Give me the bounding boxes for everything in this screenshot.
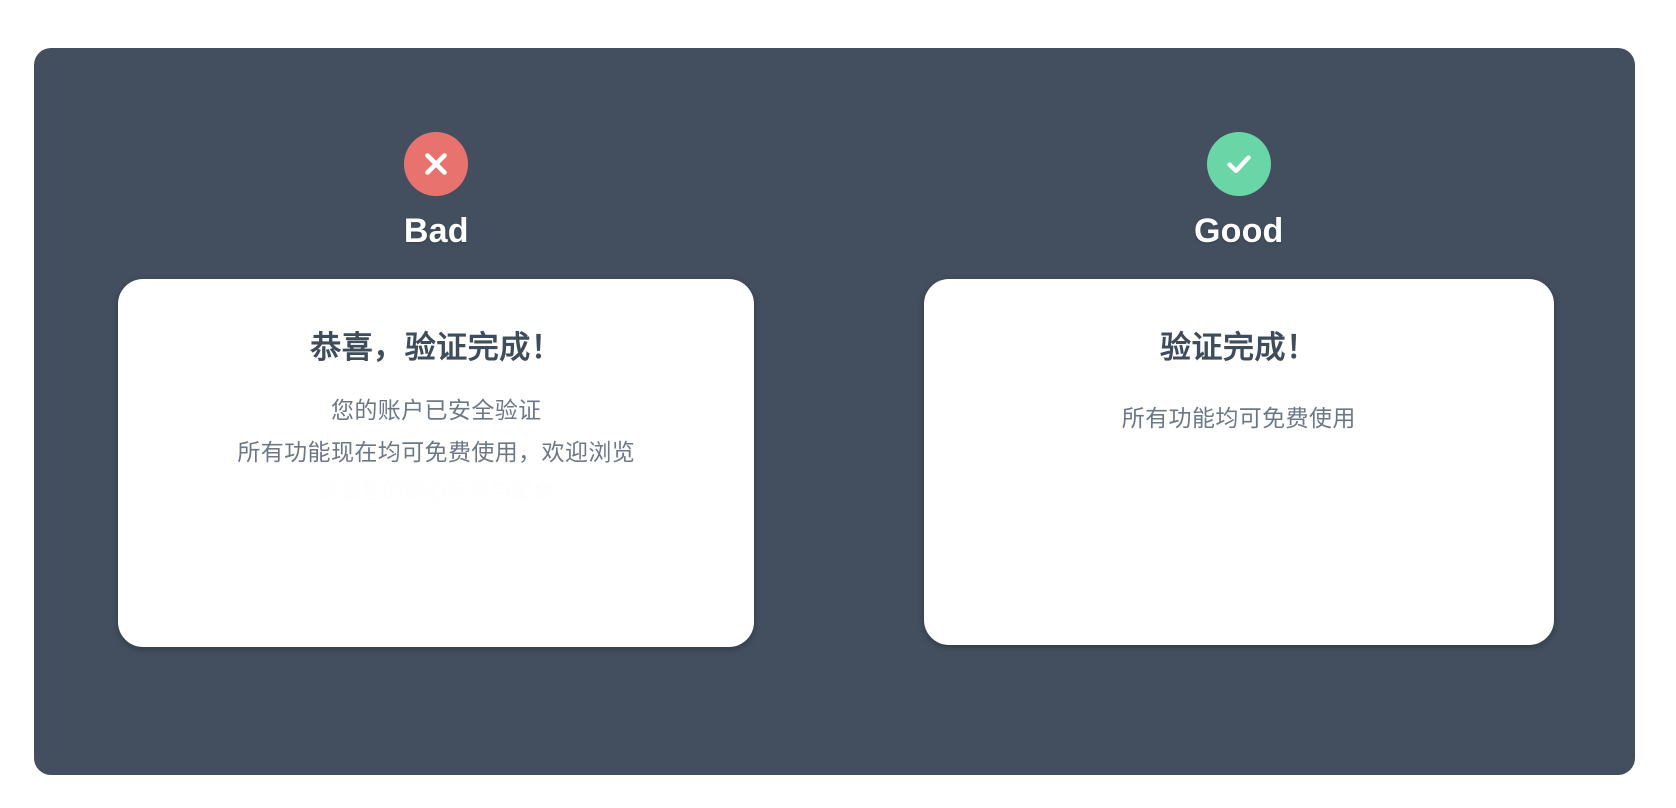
dark-panel: Bad 恭喜，验证完成！ 您的账户已安全验证 所有功能现在均可免费使用，欢迎浏览… — [34, 48, 1635, 775]
card-body-bad: 您的账户已安全验证 所有功能现在均可免费使用，欢迎浏览 感谢您的耐心等待与配合 — [237, 390, 635, 512]
comparison-columns: Bad 恭喜，验证完成！ 您的账户已安全验证 所有功能现在均可免费使用，欢迎浏览… — [34, 48, 1635, 775]
column-caption-bad: Bad — [404, 214, 469, 248]
card-title-bad: 恭喜，验证完成！ — [310, 329, 562, 368]
card-line: 所有功能现在均可免费使用，欢迎浏览 — [237, 432, 635, 474]
example-card-bad: 恭喜，验证完成！ 您的账户已安全验证 所有功能现在均可免费使用，欢迎浏览 感谢您… — [118, 279, 754, 647]
card-body-good: 所有功能均可免费使用 — [1122, 398, 1356, 440]
example-card-good: 验证完成！ 所有功能均可免费使用 — [924, 279, 1554, 645]
check-circle-icon — [1207, 132, 1271, 196]
card-line: 所有功能均可免费使用 — [1122, 398, 1356, 440]
card-title-good: 验证完成！ — [1160, 329, 1318, 368]
card-line: 您的账户已安全验证 — [237, 390, 635, 432]
cross-circle-icon — [404, 132, 468, 196]
comparison-figure: Bad 恭喜，验证完成！ 您的账户已安全验证 所有功能现在均可免费使用，欢迎浏览… — [0, 0, 1676, 808]
comparison-column-bad: Bad 恭喜，验证完成！ 您的账户已安全验证 所有功能现在均可免费使用，欢迎浏览… — [34, 48, 835, 775]
card-line-faded: 感谢您的耐心等待与配合 — [237, 473, 635, 511]
column-caption-good: Good — [1194, 214, 1284, 248]
comparison-column-good: Good 验证完成！ 所有功能均可免费使用 — [835, 48, 1636, 775]
